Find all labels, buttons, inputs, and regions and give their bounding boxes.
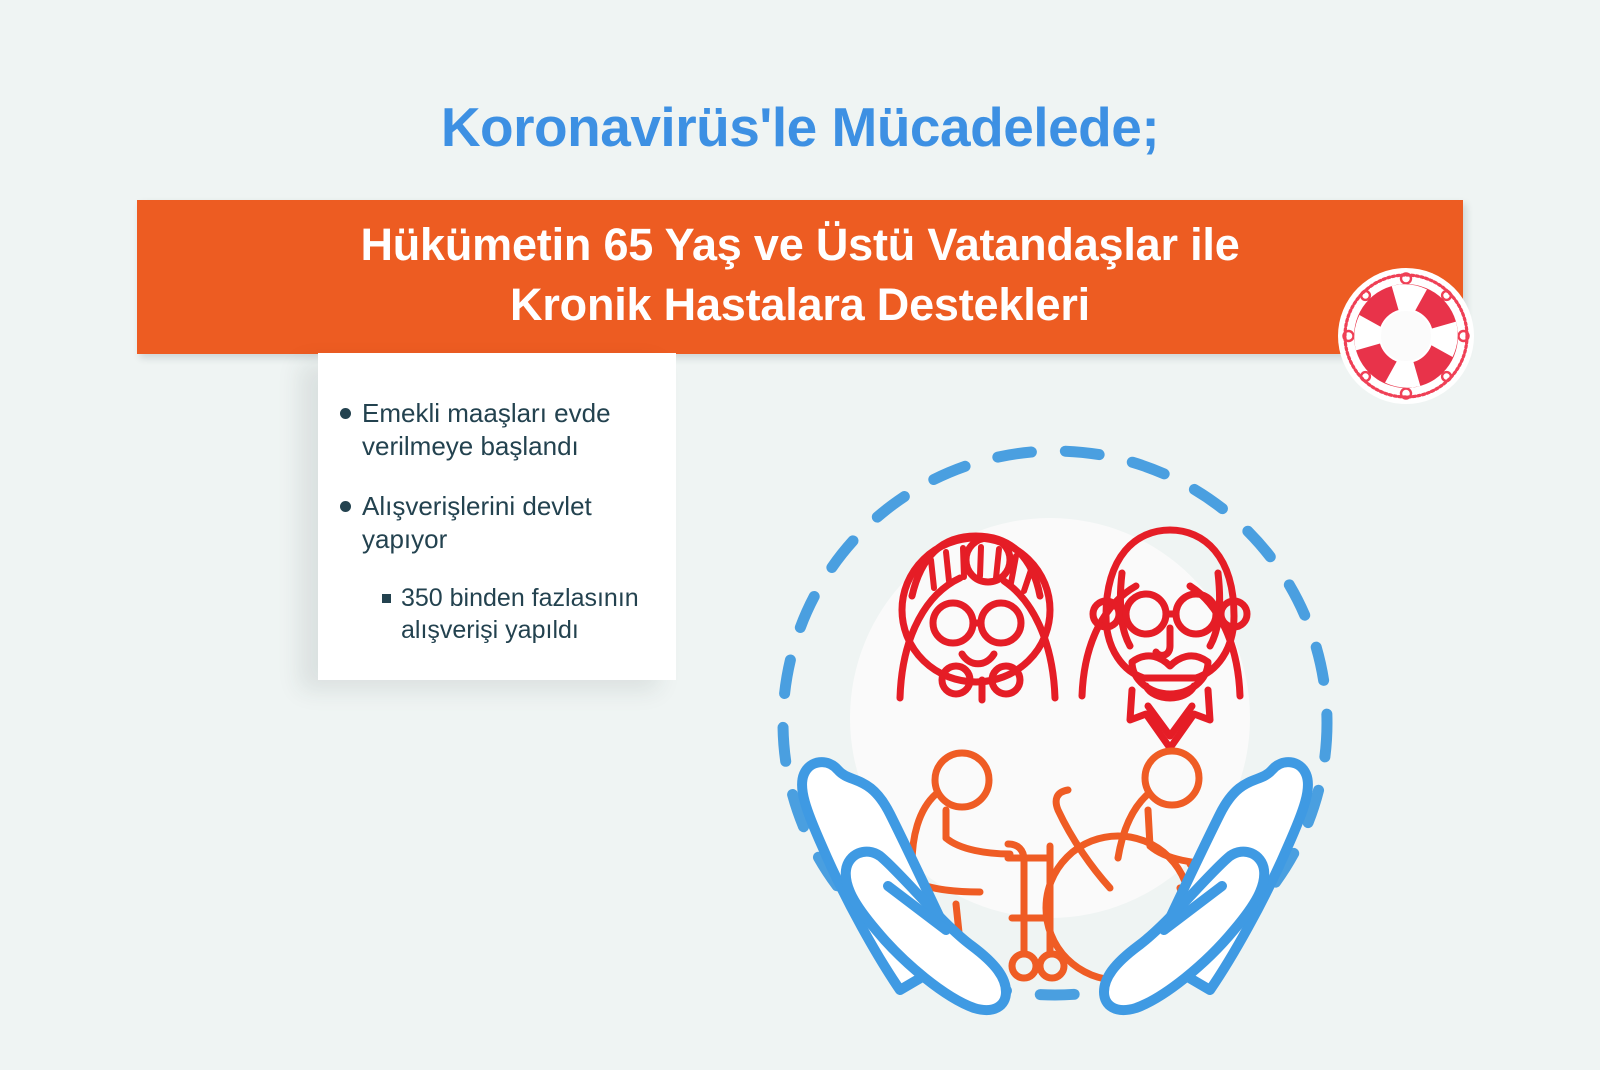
list-item-sub-label: 350 binden fazlasının alışverişi yapıldı xyxy=(401,582,654,646)
bullet-disc-icon xyxy=(340,408,351,419)
banner-line-1: Hükümetin 65 Yaş ve Üstü Vatandaşlar ile xyxy=(360,215,1239,275)
bullet-disc-icon xyxy=(340,501,351,512)
elderly-care-in-hands-illustration xyxy=(750,418,1360,1028)
support-measures-card: Emekli maaşları evde verilmeye başlandı … xyxy=(318,353,676,680)
orange-title-banner: Hükümetin 65 Yaş ve Üstü Vatandaşlar ile… xyxy=(137,200,1463,354)
list-item: Alışverişlerini devlet yapıyor xyxy=(340,490,654,557)
infographic-poster: Koronavirüs'le Mücadelede; Hükümetin 65 … xyxy=(0,0,1600,1070)
list-item-label: Emekli maaşları evde verilmeye başlandı xyxy=(362,397,632,464)
list-item: Emekli maaşları evde verilmeye başlandı xyxy=(340,397,654,464)
bullet-square-icon xyxy=(382,594,391,603)
list-item-sub: 350 binden fazlasının alışverişi yapıldı xyxy=(382,582,654,646)
list-item-label: Alışverişlerini devlet yapıyor xyxy=(362,490,632,557)
banner-line-2: Kronik Hastalara Destekleri xyxy=(510,275,1090,335)
lifebuoy-icon xyxy=(1336,266,1476,406)
page-title: Koronavirüs'le Mücadelede; xyxy=(0,97,1600,158)
